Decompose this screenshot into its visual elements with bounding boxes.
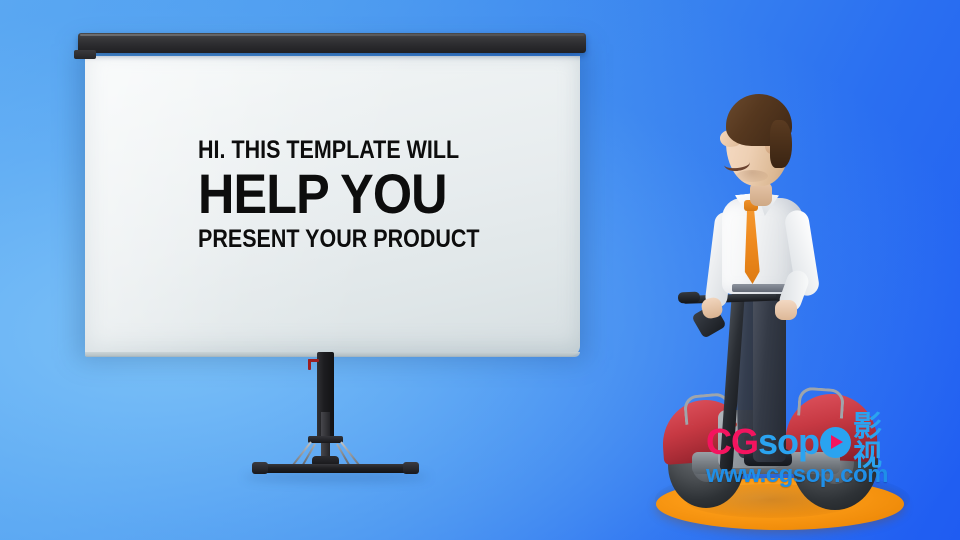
character-hair-sideburn bbox=[770, 120, 792, 168]
slide-line-2: HELP YOU bbox=[198, 166, 468, 222]
tripod-collar bbox=[308, 436, 343, 443]
character-chin-shadow bbox=[736, 170, 768, 182]
tripod-inner-post bbox=[321, 412, 330, 458]
tripod-ground-shadow bbox=[244, 472, 429, 482]
segway-grip-left bbox=[678, 292, 700, 304]
tripod-foot-left bbox=[252, 462, 268, 474]
segway-rail-right bbox=[797, 386, 845, 418]
scene-stage: HI. THIS TEMPLATE WILL HELP YOU PRESENT … bbox=[0, 0, 960, 540]
businessman-on-segway bbox=[640, 70, 940, 540]
slide-text-block: HI. THIS TEMPLATE WILL HELP YOU PRESENT … bbox=[198, 138, 498, 252]
tripod-foot-right bbox=[403, 462, 419, 474]
tripod-stand bbox=[250, 352, 420, 482]
tripod-base-bar bbox=[254, 464, 417, 473]
slide-line-3: PRESENT YOUR PRODUCT bbox=[198, 227, 456, 252]
slide-line-1: HI. THIS TEMPLATE WILL bbox=[198, 138, 456, 163]
projector-screen-assembly: HI. THIS TEMPLATE WILL HELP YOU PRESENT … bbox=[0, 0, 660, 540]
screen-roller-end-cap bbox=[74, 50, 96, 59]
tripod-lever-stem bbox=[308, 359, 311, 370]
character-hand-near bbox=[775, 300, 797, 320]
screen-roller-bar bbox=[78, 33, 586, 53]
